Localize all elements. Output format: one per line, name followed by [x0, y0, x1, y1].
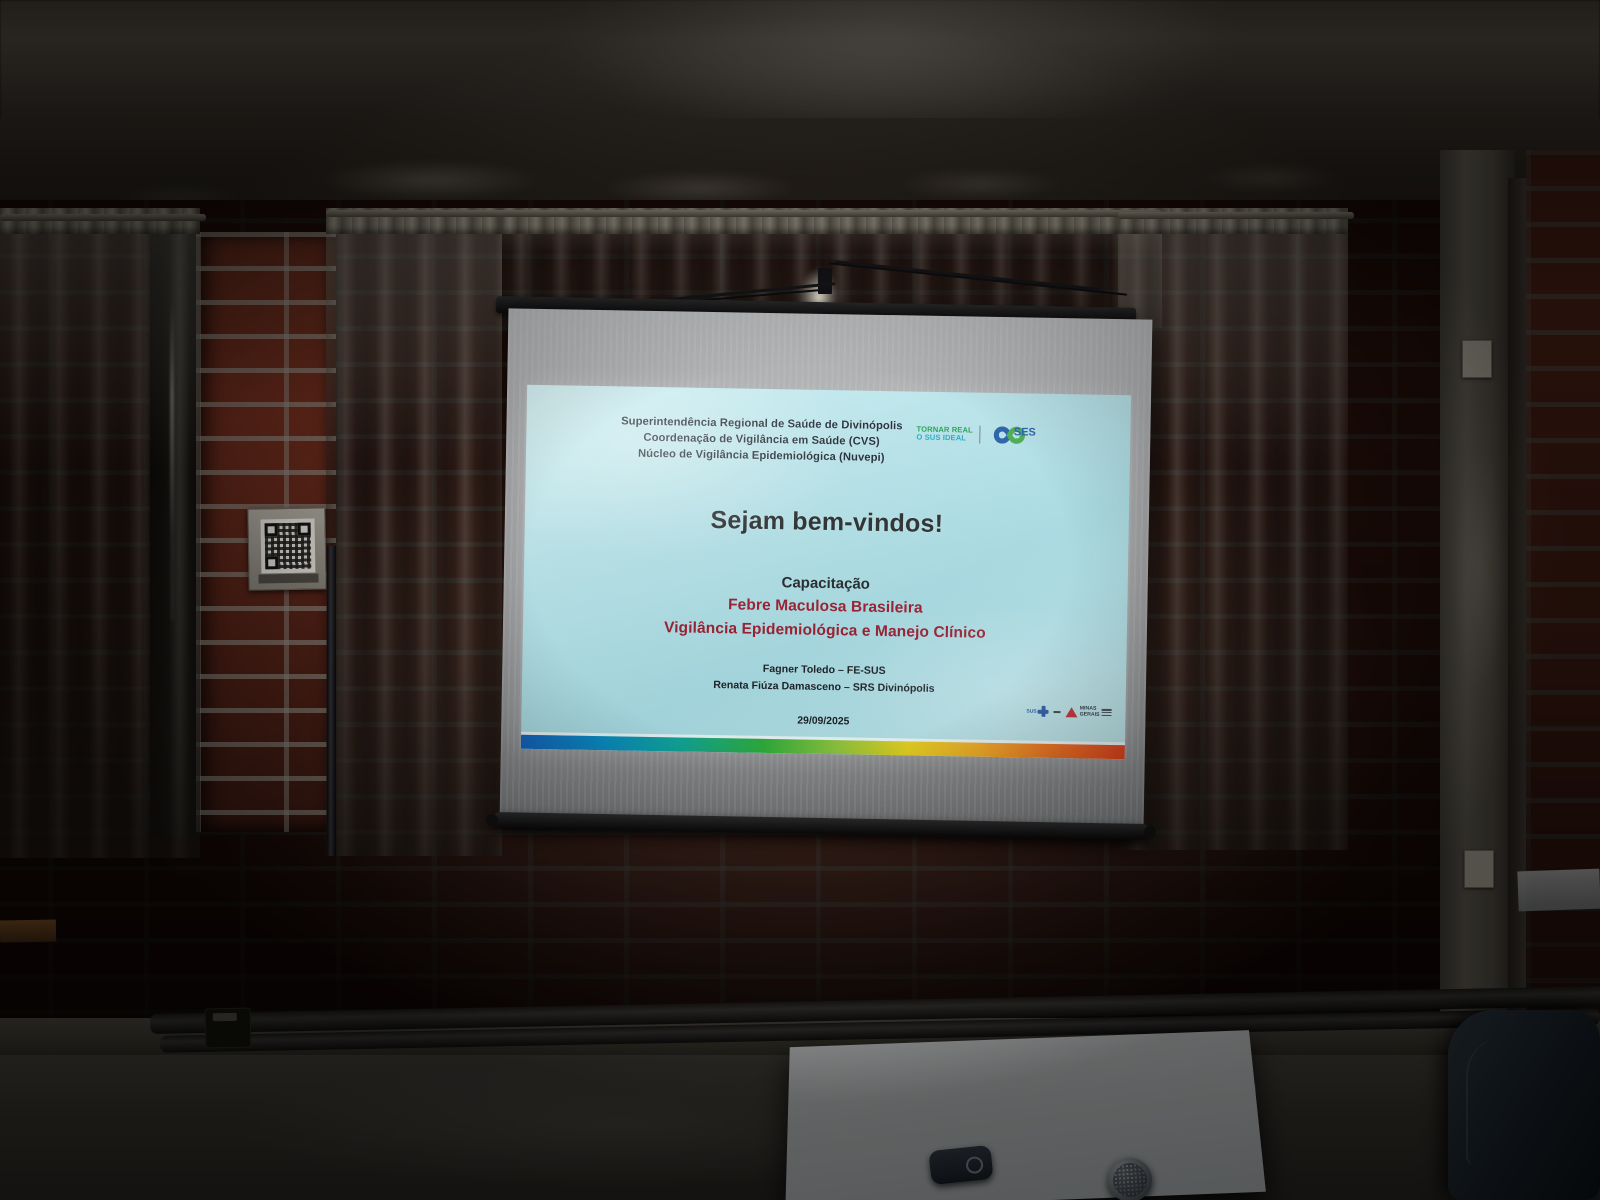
office-chair [1448, 1010, 1600, 1200]
projection-screen: Superintendência Regional de Saúde de Di… [486, 286, 1166, 846]
curtain-rod-center [326, 210, 1162, 217]
brand-slogan: TORNAR REAL O SUS IDEAL [916, 425, 973, 443]
conference-room-photo: Superintendência Regional de Saúde de Di… [0, 0, 1600, 1200]
minas-bars-icon [1101, 709, 1111, 716]
minas-logo-text: MINAS GERAIS [1080, 706, 1100, 718]
door-frame [1508, 178, 1526, 1058]
presenter-clicker[interactable] [928, 1145, 993, 1185]
light-switch-lower[interactable] [1464, 850, 1494, 888]
presenter-table [785, 1030, 1266, 1200]
minas-triangle-icon [1066, 707, 1078, 717]
slide-header: Superintendência Regional de Saúde de Di… [526, 413, 1131, 471]
logo-separator [1054, 711, 1061, 713]
concrete-column [1440, 150, 1515, 1050]
curtain-rod-right [1118, 212, 1354, 219]
curtain-left-inner [326, 208, 502, 856]
sus-logo-text: SUS [1026, 708, 1036, 714]
side-shelf-right [1517, 869, 1600, 912]
qr-plaque-caption [258, 573, 318, 583]
minas-gerais-logo: MINAS GERAIS [1066, 706, 1112, 718]
qr-code-plaque[interactable] [247, 507, 326, 590]
right-brick-wall [1526, 150, 1600, 1060]
ses-brand-block: TORNAR REAL O SUS IDEAL [916, 422, 1036, 448]
sus-logo: SUS [1026, 706, 1048, 717]
brand-divider [980, 426, 981, 444]
course-block: Capacitação Febre Maculosa Brasileira Vi… [523, 567, 1128, 647]
ses-logo-sub: MG [1014, 438, 1036, 443]
welcome-heading: Sejam bem-vindos! [525, 503, 1129, 543]
sus-cross-icon [1038, 706, 1049, 717]
light-switch-upper[interactable] [1462, 340, 1492, 378]
ses-logo: SES MG [988, 423, 1036, 448]
curtain-rod-left [0, 214, 206, 221]
screen-surface: Superintendência Regional de Saúde de Di… [500, 308, 1153, 829]
qr-code-icon [260, 519, 315, 574]
tripod-pole [327, 546, 336, 856]
footer-logos: SUS MINAS GERAIS [1026, 706, 1111, 719]
side-table-left [0, 920, 56, 943]
minas-line-2: GERAIS [1080, 711, 1100, 717]
projected-slide: Superintendência Regional de Saúde de Di… [521, 385, 1131, 759]
brand-slogan-line2: O SUS IDEAL [916, 434, 972, 443]
curtain-left [0, 208, 200, 858]
authors-block: Fagner Toledo – FE-SUS Renata Fiúza Dama… [522, 657, 1127, 702]
organization-lines: Superintendência Regional de Saúde de Di… [620, 414, 902, 467]
